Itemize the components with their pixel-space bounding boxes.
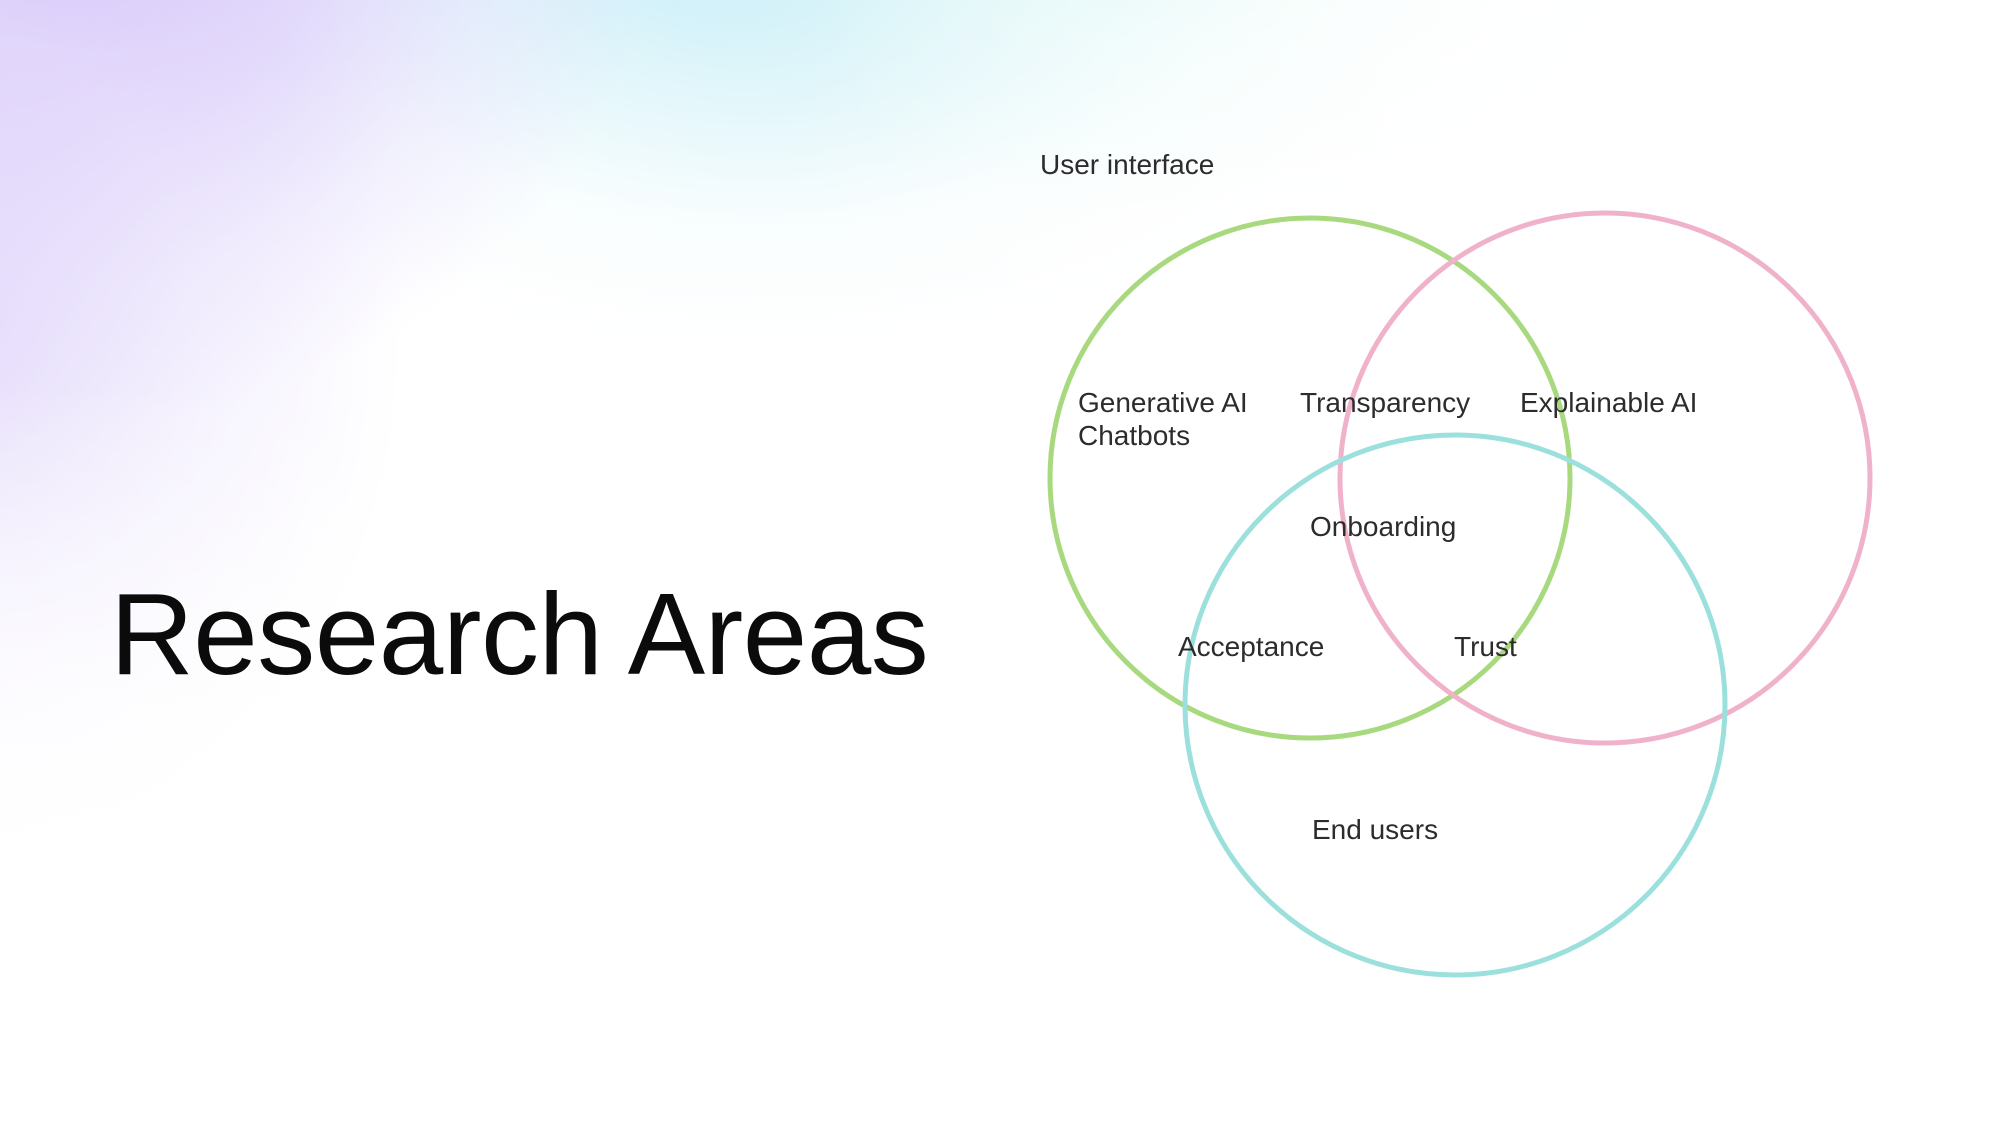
venn-label-generative-ai-chatbots: Generative AI Chatbots xyxy=(1078,386,1248,453)
slide-canvas: Research Areas User interface Generative… xyxy=(0,0,2000,1125)
venn-diagram: User interface Generative AI Chatbots Tr… xyxy=(1000,130,1940,1030)
venn-label-acceptance: Acceptance xyxy=(1178,630,1324,663)
venn-label-user-interface: User interface xyxy=(1040,148,1214,181)
venn-label-onboarding: Onboarding xyxy=(1310,510,1456,543)
page-title: Research Areas xyxy=(110,572,928,697)
venn-label-explainable-ai: Explainable AI xyxy=(1520,386,1697,419)
venn-label-end-users: End users xyxy=(1312,813,1438,846)
venn-circles-svg xyxy=(1000,130,1940,1030)
venn-label-transparency: Transparency xyxy=(1300,386,1470,419)
venn-label-trust: Trust xyxy=(1454,630,1517,663)
